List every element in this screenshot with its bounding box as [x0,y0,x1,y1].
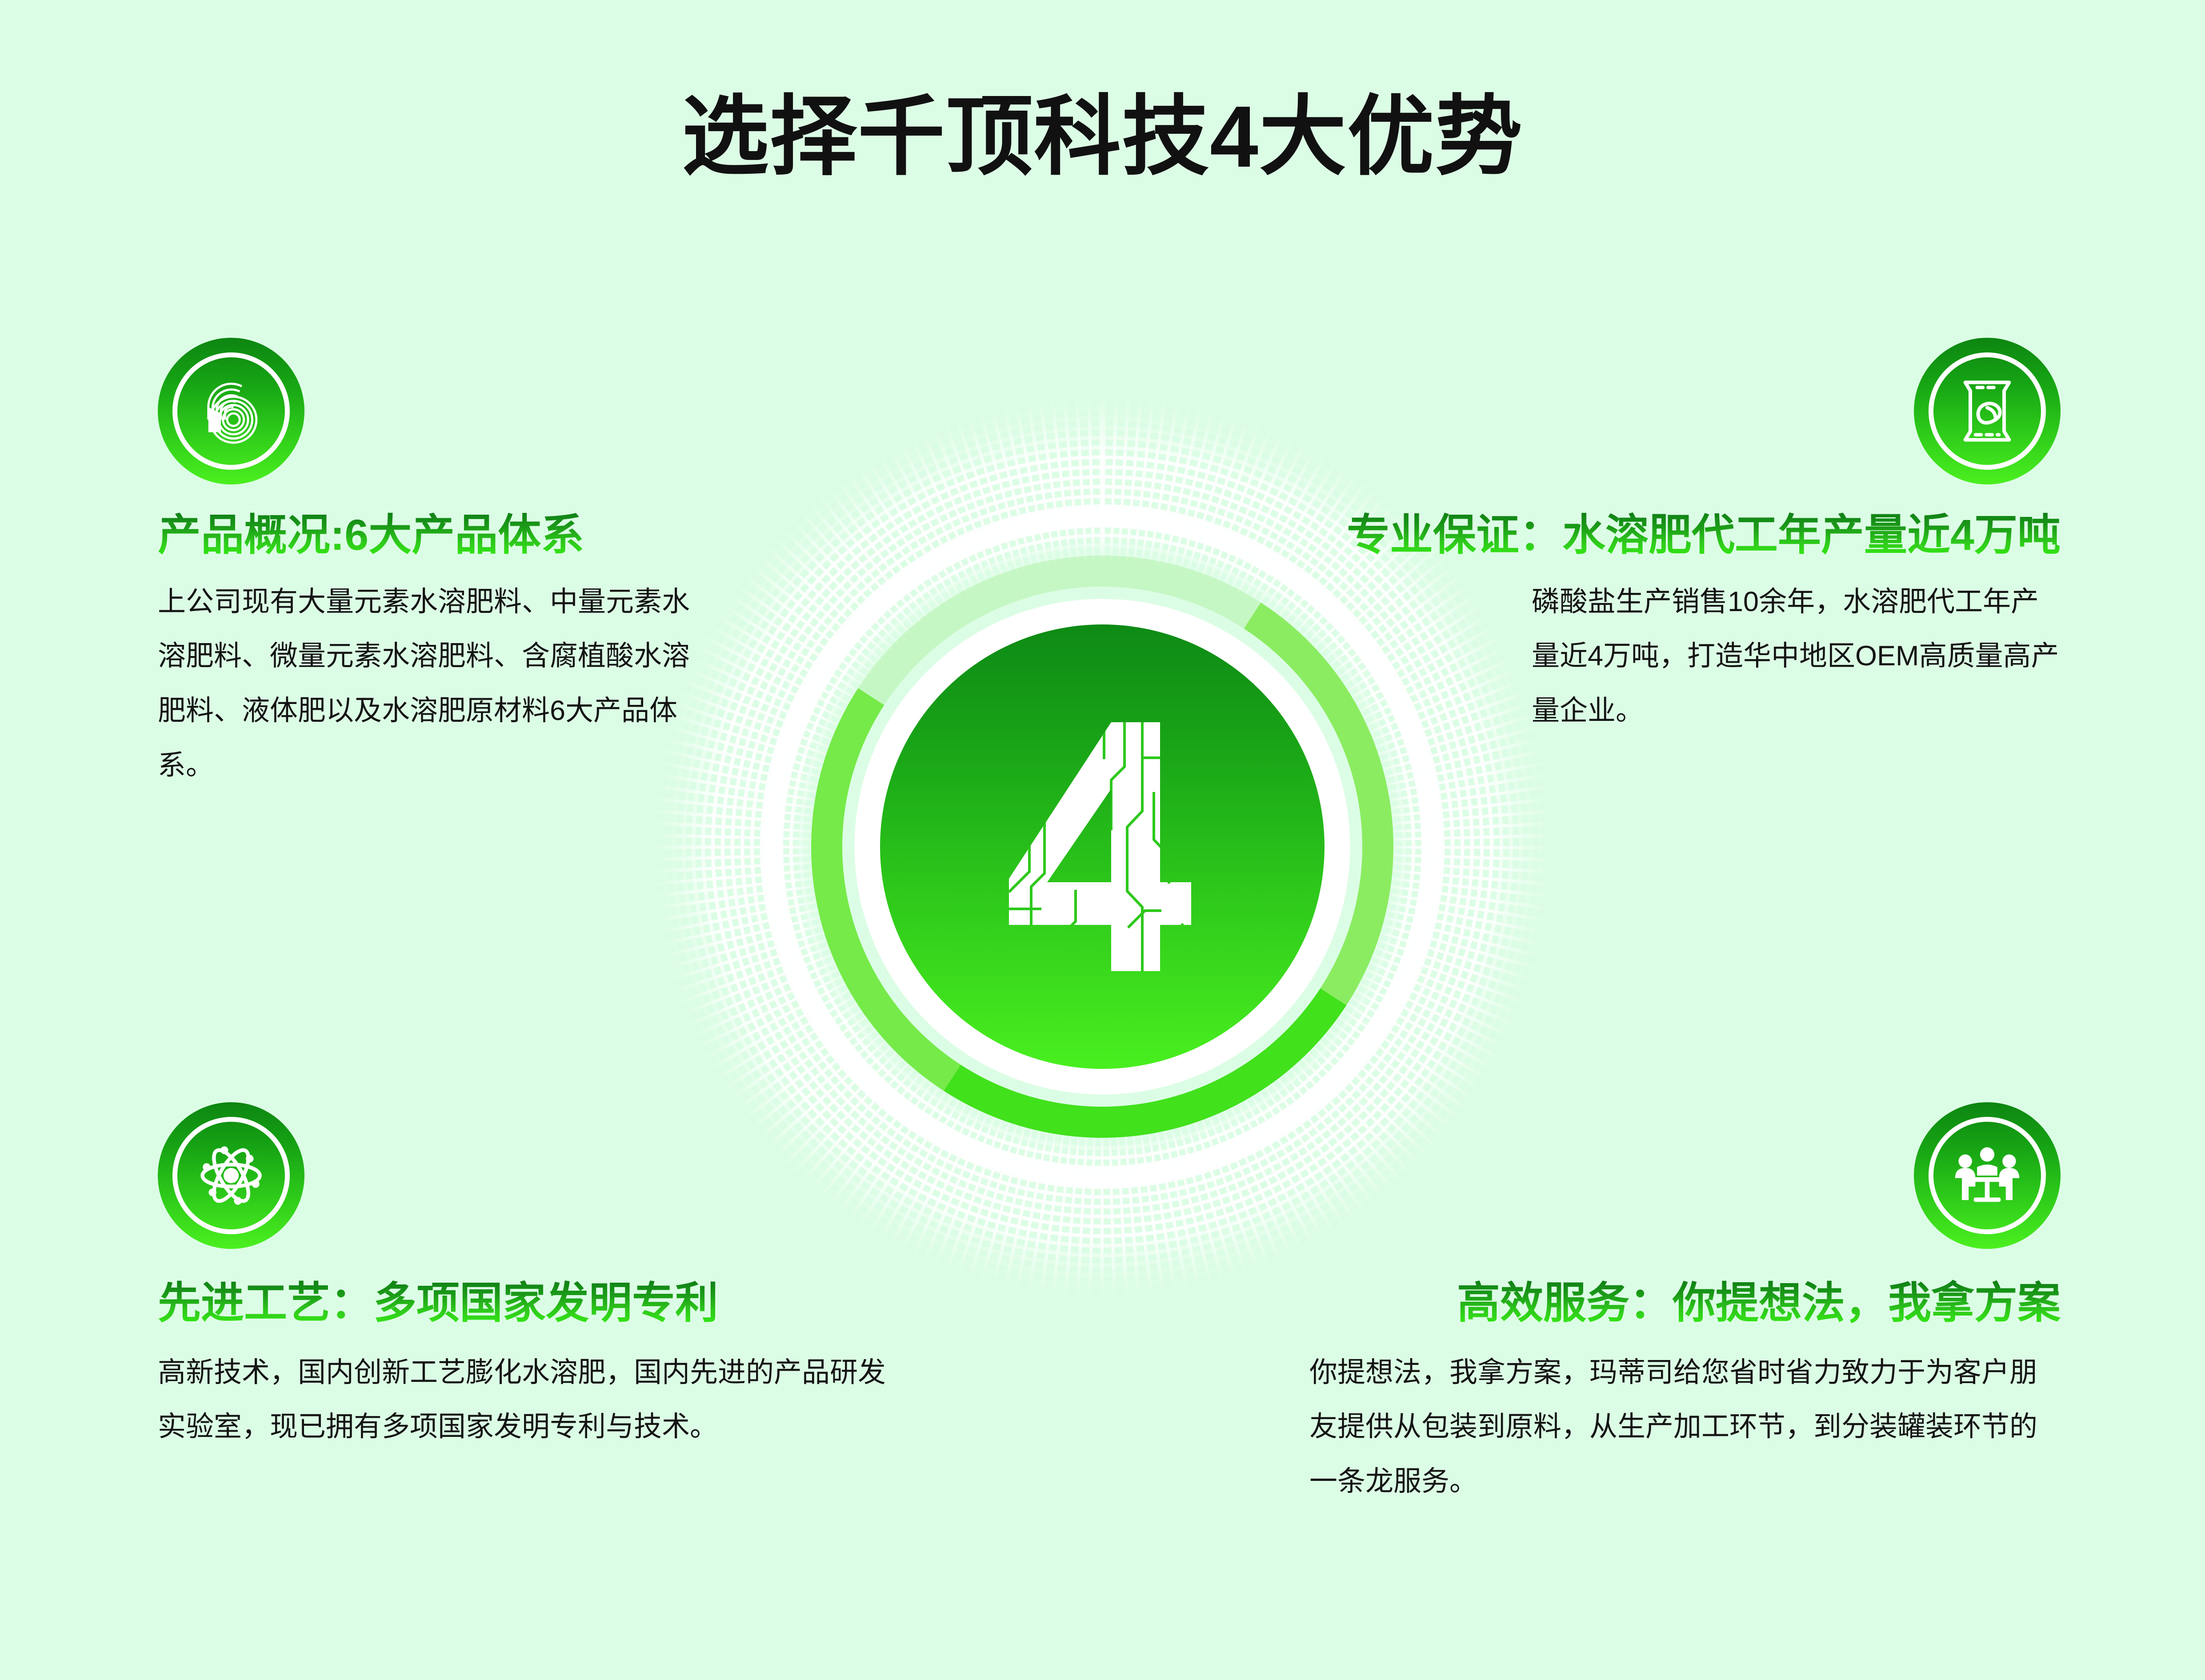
advantage-heading-bottom-left: 先进工艺：多项国家发明专利 [158,1279,913,1328]
advantage-heading-top-right: 专业保证：水溶肥代工年产量近4万吨 [1167,511,2061,560]
advantage-heading-bottom-right: 高效服务：你提想法，我拿方案 [1292,1279,2061,1328]
advantage-body-top-left: 上公司现有大量元素水溶肥料、中量元素水溶肥料、微量元素水溶肥料、含腐植酸水溶肥料… [158,575,711,793]
advantage-block-bottom-right: 高效服务：你提想法，我拿方案 你提想法，我拿方案，玛蒂司给您省时省力致力于为客户… [1292,1102,2061,1509]
number-six-icon [179,359,284,464]
badge-bottom-left [158,1102,304,1249]
badge-top-right [1914,338,2061,484]
fertilizer-bag-icon [1945,369,2029,453]
advantage-block-bottom-left: 先进工艺：多项国家发明专利 高新技术，国内创新工艺膨化水溶肥，国内先进的产品研发… [158,1102,913,1454]
meeting-people-icon [1945,1133,2029,1218]
badge-bottom-right [1914,1102,2061,1249]
advantage-body-bottom-left: 高新技术，国内创新工艺膨化水溶肥，国内先进的产品研发实验室，现已拥有多项国家发明… [158,1345,909,1455]
badge-top-left [158,338,304,484]
page-title: 选择千顶科技4大优势 [0,93,2205,180]
advantage-block-top-right: 专业保证：水溶肥代工年产量近4万吨 磷酸盐生产销售10余年，水溶肥代工年产量近4… [1167,338,2061,738]
number-four-tech-icon [978,704,1227,989]
advantage-block-top-left: 产品概况:6大产品体系 上公司现有大量元素水溶肥料、中量元素水溶肥料、微量元素水… [158,338,744,793]
advantage-body-top-right: 磷酸盐生产销售10余年，水溶肥代工年产量近4万吨，打造华中地区OEM高质量高产量… [1532,575,2061,739]
atom-icon [189,1133,273,1218]
advantage-body-bottom-right: 你提想法，我拿方案，玛蒂司给您省时省力致力于为客户朋友提供从包装到原料，从生产加… [1309,1345,2061,1509]
advantage-heading-top-left: 产品概况:6大产品体系 [158,511,744,560]
